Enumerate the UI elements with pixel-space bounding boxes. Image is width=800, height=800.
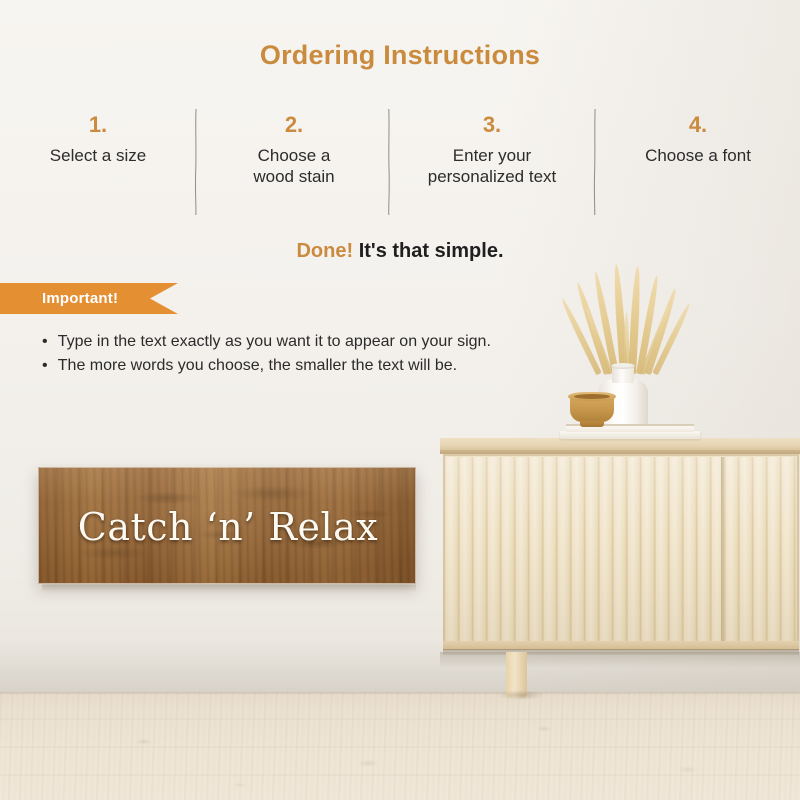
important-bullet-list: • Type in the text exactly as you want i… <box>42 330 642 378</box>
step-4: 4. Choose a font <box>600 112 796 166</box>
steps-row: 1. Select a size 2. Choose a wood stain … <box>0 112 800 220</box>
brass-bowl <box>568 392 616 428</box>
sideboard-door-seam <box>721 457 724 641</box>
sideboard-underside-shadow <box>443 649 799 655</box>
step-3: 3. Enter your personalized text <box>394 112 590 187</box>
step-4-number: 4. <box>600 112 796 138</box>
floor-wall-junction <box>0 692 800 695</box>
step-3-number: 3. <box>394 112 590 138</box>
sideboard-leg-shadow <box>498 690 544 700</box>
page-title: Ordering Instructions <box>0 40 800 71</box>
step-3-label: Enter your personalized text <box>394 145 590 187</box>
product-infographic: Catch ‘n’ Relax Ordering Instructions 1.… <box>0 0 800 800</box>
done-highlight: Done! <box>296 240 353 262</box>
wood-floor <box>0 692 800 800</box>
step-2-number: 2. <box>196 112 392 138</box>
bowl-foot <box>580 421 604 427</box>
book-lower <box>560 431 700 439</box>
list-item: • Type in the text exactly as you want i… <box>42 330 642 354</box>
step-1: 1. Select a size <box>0 112 196 166</box>
sign-engraved-text: Catch ‘n’ Relax <box>39 468 416 584</box>
step-divider-1 <box>194 108 196 216</box>
step-2: 2. Choose a wood stain <box>196 112 392 187</box>
list-item: • The more words you choose, the smaller… <box>42 354 642 378</box>
wooden-sign: Catch ‘n’ Relax <box>38 467 416 584</box>
bullet-dot: • <box>42 333 48 350</box>
sideboard <box>440 438 800 660</box>
sideboard-highlight <box>446 457 796 641</box>
step-divider-3 <box>593 108 595 216</box>
done-statement: Done! It's that simple. <box>0 240 800 263</box>
floor-knot-texture <box>0 692 800 800</box>
step-2-label: Choose a wood stain <box>196 145 392 187</box>
step-1-label: Select a size <box>0 145 196 166</box>
step-4-label: Choose a font <box>600 145 796 166</box>
bullet-dot: • <box>42 357 48 374</box>
step-divider-2 <box>387 108 389 216</box>
bullet-text: Type in the text exactly as you want it … <box>58 333 491 350</box>
important-ribbon-label: Important! <box>42 284 162 313</box>
step-1-number: 1. <box>0 112 196 138</box>
bowl-interior <box>574 394 610 399</box>
bullet-text: The more words you choose, the smaller t… <box>58 357 457 374</box>
done-remainder: It's that simple. <box>359 240 504 262</box>
